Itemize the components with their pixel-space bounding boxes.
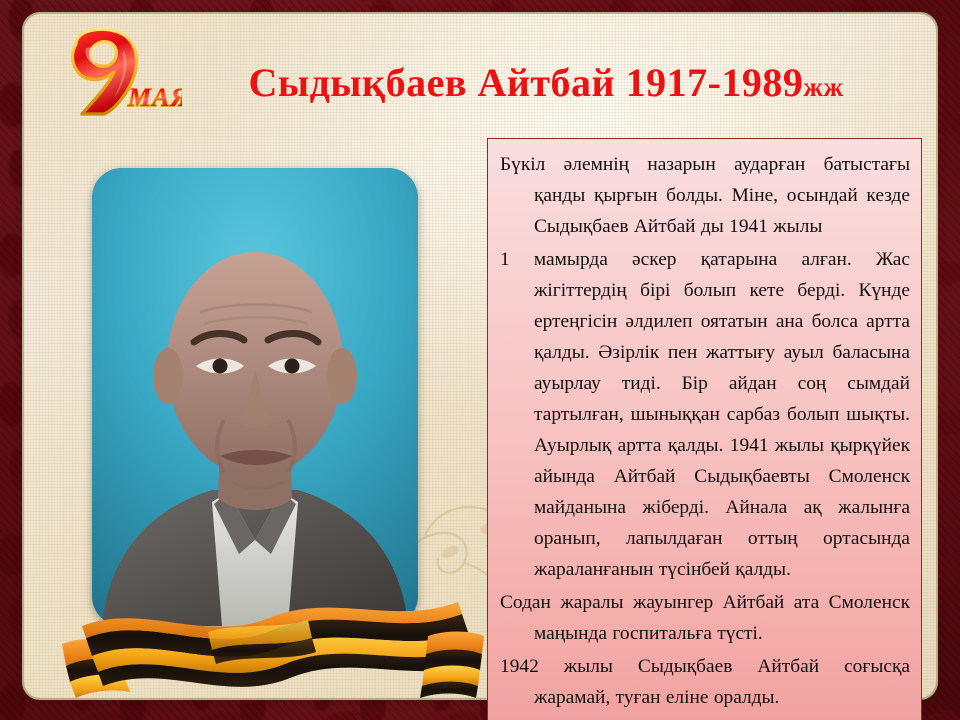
portrait-photo-image xyxy=(92,168,418,626)
body-textbox: Бүкіл әлемнің назарын аударған батыстағы… xyxy=(487,138,922,720)
body-paragraph-1: Бүкіл әлемнің назарын аударған батыстағы… xyxy=(500,149,910,242)
victory-day-emblem-icon: МАЯ xyxy=(42,24,182,118)
page-title-suffix: жж xyxy=(803,72,843,102)
portrait-photo xyxy=(92,168,418,626)
presentation-slide: МАЯ Сыдықбаев Айтбай 1917-1989жж xyxy=(0,0,960,720)
body-paragraph-2: 1 мамырда әскер қатарына алған. Жас жігі… xyxy=(500,244,910,585)
page-title: Сыдықбаев Айтбай 1917-1989жж xyxy=(186,62,906,104)
body-paragraph-3: Содан жаралы жауынгер Айтбай ата Смоленс… xyxy=(500,587,910,649)
page-title-main: Сыдықбаев Айтбай 1917-1989 xyxy=(248,60,803,105)
textbox-right-edge xyxy=(921,139,922,720)
svg-text:МАЯ: МАЯ xyxy=(127,83,182,112)
body-paragraph-4: 1942 жылы Сыдықбаев Айтбай соғысқа жарам… xyxy=(500,651,910,713)
